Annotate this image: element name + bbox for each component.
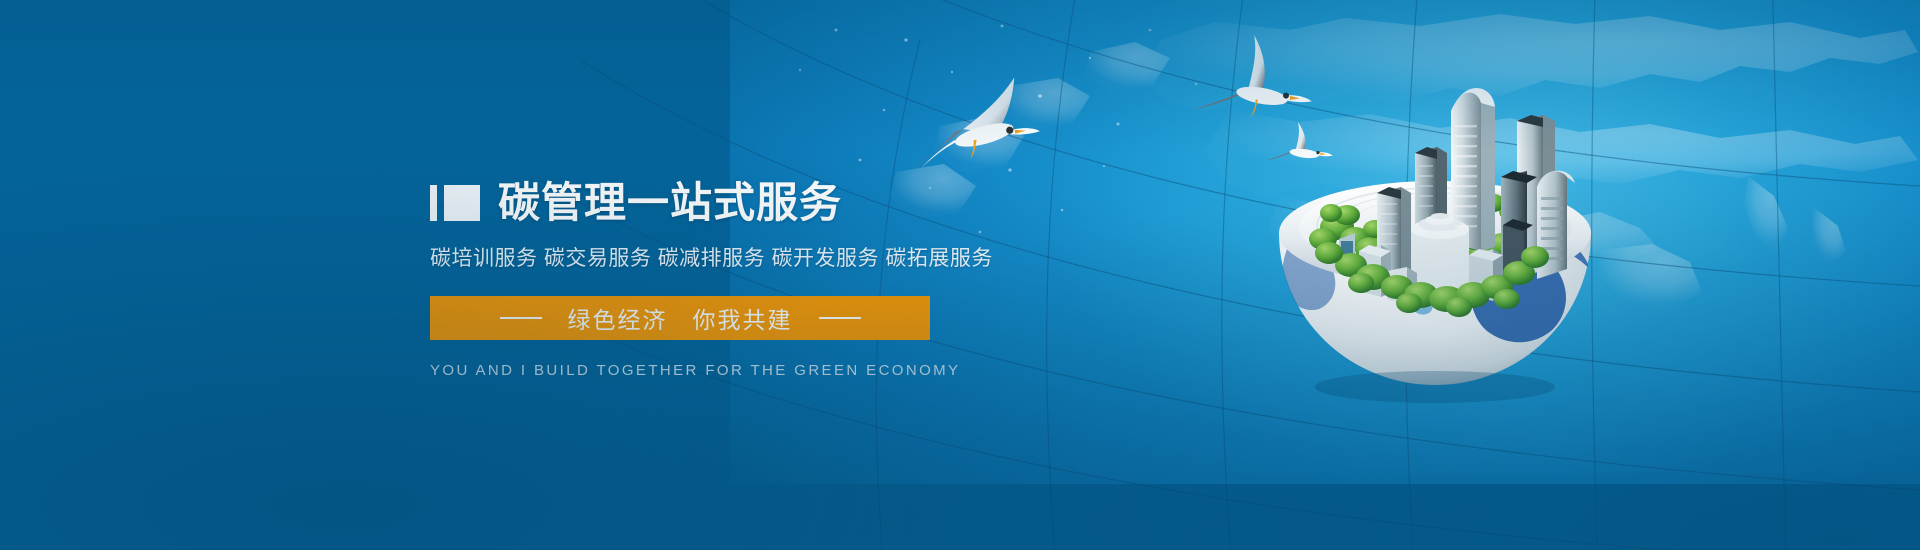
slogan-banner: 绿色经济 你我共建 <box>430 296 930 340</box>
bar-square-mark-icon <box>430 185 480 221</box>
banner-content: 碳管理一站式服务 碳培训服务 碳交易服务 碳减排服务 碳开发服务 碳拓展服务 绿… <box>430 178 1070 379</box>
slogan-rule-right <box>819 317 861 319</box>
promo-banner: 碳管理一站式服务 碳培训服务 碳交易服务 碳减排服务 碳开发服务 碳拓展服务 绿… <box>0 0 1920 550</box>
english-tagline: YOU AND I BUILD TOGETHER FOR THE GREEN E… <box>430 362 930 379</box>
slogan-text: 绿色经济 你我共建 <box>568 301 793 335</box>
globe-city-artwork <box>1255 15 1615 425</box>
heading-row: 碳管理一站式服务 <box>430 178 1070 228</box>
service-list: 碳培训服务 碳交易服务 碳减排服务 碳开发服务 碳拓展服务 <box>430 242 1070 272</box>
slogan-rule-left <box>500 317 542 319</box>
page-title: 碳管理一站式服务 <box>498 182 842 224</box>
